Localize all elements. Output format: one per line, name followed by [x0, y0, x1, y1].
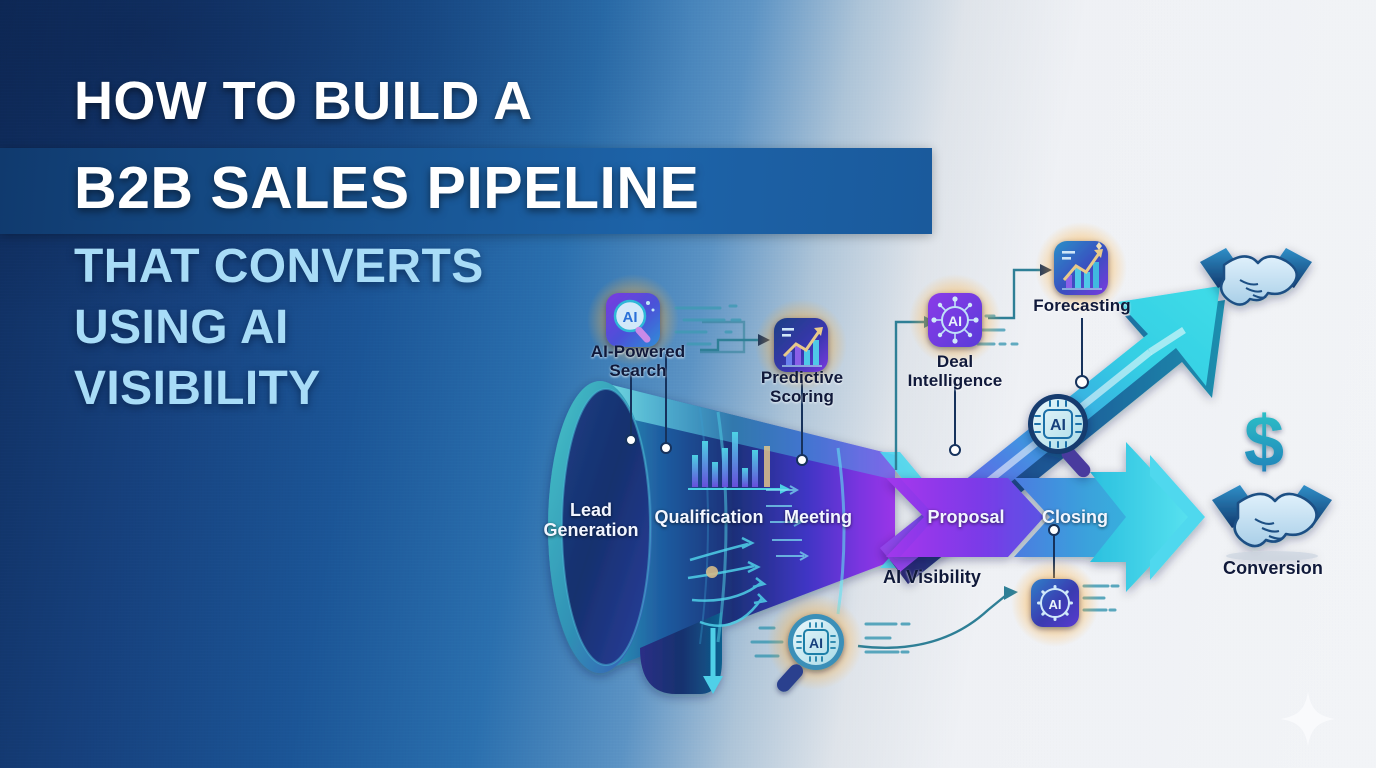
callout-label-predictive-scoring: Predictive Scoring	[742, 368, 862, 406]
callout-label-ai-powered-search: AI-Powered Search	[578, 342, 698, 380]
funnel-stage-lead-generation: Lead Generation	[536, 500, 646, 540]
callout-label-conversion: Conversion	[1202, 558, 1344, 578]
chart-trend-icon	[774, 318, 828, 372]
callout-label-deal-intelligence: Deal Intelligence	[893, 352, 1017, 390]
chart-forecast-icon	[1054, 241, 1108, 295]
arrow-stage-closing: Closing	[1032, 507, 1118, 527]
svg-text:AI: AI	[809, 635, 823, 651]
funnel-stage-meeting: Meeting	[776, 507, 860, 527]
funnel-stage-qualification: Qualification	[645, 507, 773, 527]
handshake-icon-bottom	[1212, 485, 1332, 561]
ai-magnifier-icon: AI	[606, 293, 660, 347]
svg-text:AI: AI	[623, 309, 638, 326]
ai-network-icon: AI	[928, 293, 982, 347]
callout-label-forecasting: Forecasting	[1022, 296, 1142, 315]
svg-text:$: $	[1244, 402, 1284, 482]
svg-text:AI: AI	[1050, 417, 1066, 434]
ai-gear-icon: AI	[1031, 579, 1079, 627]
svg-text:AI: AI	[1049, 597, 1062, 612]
arrow-stage-proposal: Proposal	[920, 507, 1012, 527]
pipeline-diagram: AI AI	[0, 0, 1376, 768]
callout-label-ai-visibility: AI Visibility	[862, 567, 1002, 587]
infographic-canvas: HOW TO BUILD A B2B SALES PIPELINE THAT C…	[0, 0, 1376, 768]
dollar-sign-icon: $	[1244, 402, 1284, 482]
svg-text:AI: AI	[948, 313, 962, 329]
